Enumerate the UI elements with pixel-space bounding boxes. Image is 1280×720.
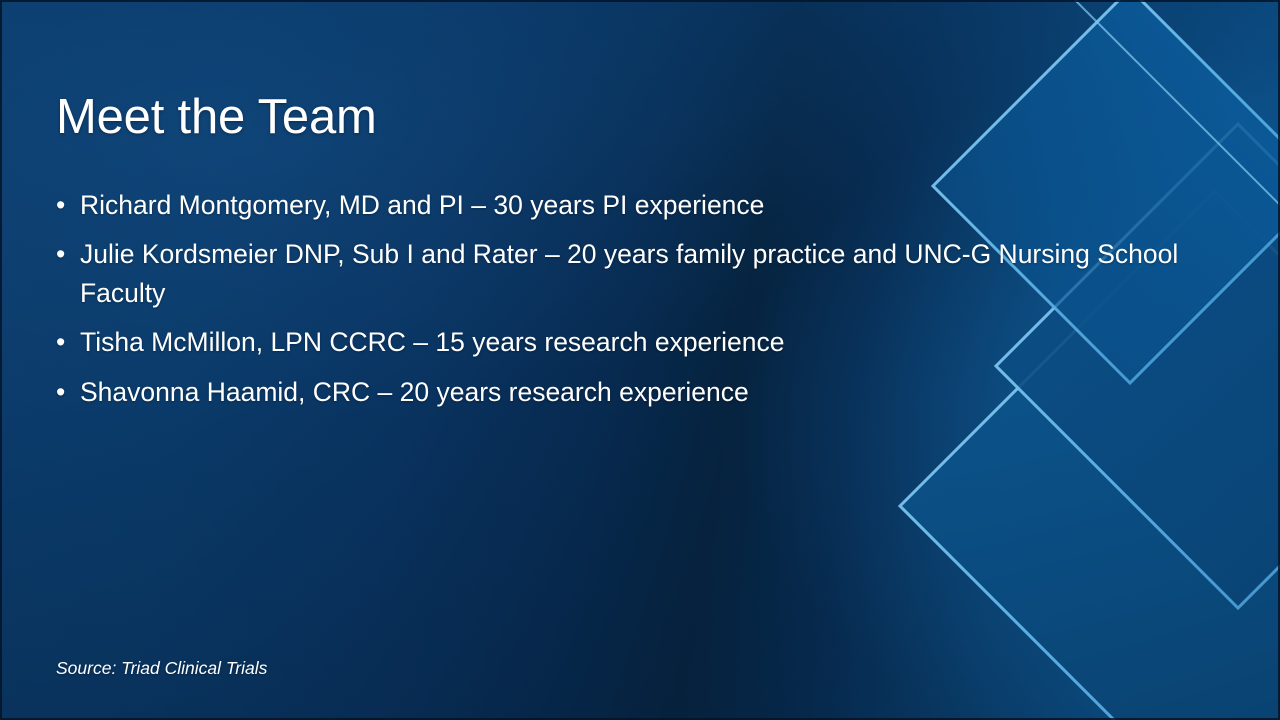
list-item-text: Julie Kordsmeier DNP, Sub I and Rater – …: [80, 239, 1178, 307]
bullet-glyph-icon: •: [56, 186, 65, 224]
list-item: • Richard Montgomery, MD and PI – 30 yea…: [56, 186, 1191, 224]
slide-content: Meet the Team • Richard Montgomery, MD a…: [0, 0, 1280, 720]
slide-canvas: Meet the Team • Richard Montgomery, MD a…: [0, 0, 1280, 720]
bullet-glyph-icon: •: [56, 373, 65, 411]
list-item-text: Richard Montgomery, MD and PI – 30 years…: [80, 190, 764, 220]
bullet-glyph-icon: •: [56, 323, 65, 361]
page-title: Meet the Team: [56, 91, 377, 144]
list-item-text: Shavonna Haamid, CRC – 20 years research…: [80, 377, 749, 407]
bullet-glyph-icon: •: [56, 235, 65, 273]
list-item-text: Tisha McMillon, LPN CCRC – 15 years rese…: [80, 327, 784, 357]
list-item: • Julie Kordsmeier DNP, Sub I and Rater …: [56, 235, 1191, 312]
source-attribution: Source: Triad Clinical Trials: [56, 658, 267, 679]
list-item: • Shavonna Haamid, CRC – 20 years resear…: [56, 373, 1191, 411]
list-item: • Tisha McMillon, LPN CCRC – 15 years re…: [56, 323, 1191, 361]
team-bullet-list: • Richard Montgomery, MD and PI – 30 yea…: [56, 186, 1191, 422]
